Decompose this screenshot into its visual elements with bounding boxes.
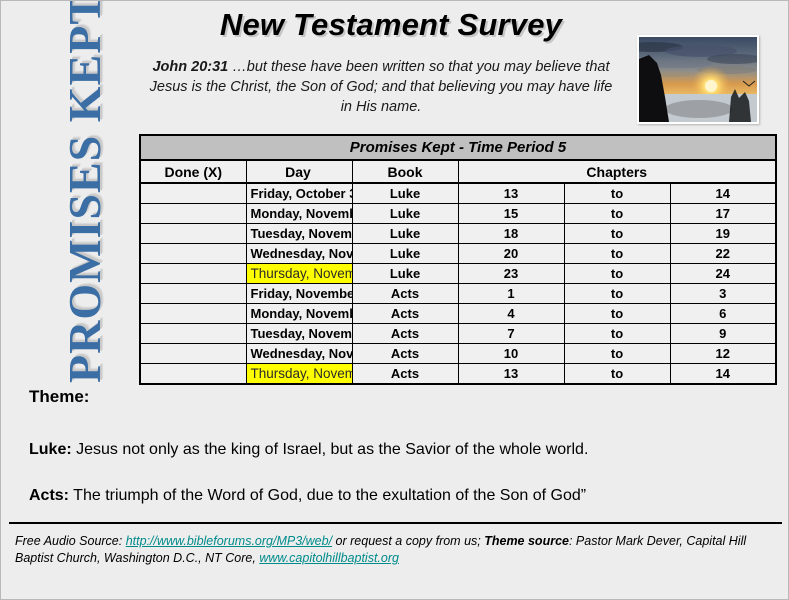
cell-done[interactable] [140, 284, 246, 304]
cell-chapter-from: 13 [458, 183, 564, 204]
cell-day: Monday, November 09, 2009 [246, 304, 352, 324]
audio-source-link[interactable]: http://www.bibleforums.org/MP3/web/ [126, 534, 332, 548]
cell-chapter-from: 18 [458, 224, 564, 244]
cell-chapter-thru: 22 [670, 244, 776, 264]
theme-acts-book: Acts: [29, 487, 69, 504]
footer-text-2: or request a copy from us; [332, 534, 484, 548]
cell-chapter-thru: 3 [670, 284, 776, 304]
cell-chapter-thru: 14 [670, 364, 776, 385]
cell-chapter-sep: to [564, 304, 670, 324]
cell-done[interactable] [140, 364, 246, 385]
theme-acts-line: Acts: The triumph of the Word of God, du… [29, 487, 586, 505]
cell-done[interactable] [140, 304, 246, 324]
cell-chapter-from: 15 [458, 204, 564, 224]
cell-chapter-sep: to [564, 264, 670, 284]
cell-book: Luke [352, 183, 458, 204]
cell-chapter-sep: to [564, 183, 670, 204]
table-caption: Promises Kept - Time Period 5 [140, 135, 776, 160]
column-header-day: Day [246, 160, 352, 183]
cell-book: Acts [352, 324, 458, 344]
cell-book: Acts [352, 344, 458, 364]
page-title: New Testament Survey [151, 7, 631, 43]
cell-chapter-thru: 14 [670, 183, 776, 204]
cell-done[interactable] [140, 183, 246, 204]
footer-credits: Free Audio Source: http://www.bibleforum… [15, 533, 763, 567]
slide-canvas: PROMISES KEPT New Testament Survey John … [0, 0, 789, 600]
cell-day: Tuesday, November 03, 2009 [246, 224, 352, 244]
capitolhillbaptist-link[interactable]: www.capitolhillbaptist.org [259, 551, 399, 565]
cell-book: Luke [352, 204, 458, 224]
sunset-photo-frame [637, 35, 759, 124]
column-header-book: Book [352, 160, 458, 183]
cell-day: Wednesday, November 04, 2009 [246, 244, 352, 264]
cell-chapter-thru: 19 [670, 224, 776, 244]
table-row[interactable]: Monday, November 09, 2009Acts4to6 [140, 304, 776, 324]
cell-chapter-thru: 12 [670, 344, 776, 364]
cell-chapter-thru: 6 [670, 304, 776, 324]
footer-divider [9, 522, 782, 524]
cell-chapter-from: 23 [458, 264, 564, 284]
cell-book: Acts [352, 284, 458, 304]
table-row[interactable]: Wednesday, November 04, 2009Luke20to22 [140, 244, 776, 264]
theme-acts-text: The triumph of the Word of God, due to t… [69, 487, 586, 504]
sunset-photo [639, 37, 757, 122]
cell-done[interactable] [140, 224, 246, 244]
theme-luke-line: Luke: Jesus not only as the king of Isra… [29, 441, 588, 459]
cell-chapter-from: 4 [458, 304, 564, 324]
cell-done[interactable] [140, 264, 246, 284]
column-header-chapters: Chapters [458, 160, 776, 183]
table-row[interactable]: Wednesday, November 11, 2009Acts10to12 [140, 344, 776, 364]
cell-done[interactable] [140, 244, 246, 264]
theme-luke-text: Jesus not only as the king of Israel, bu… [72, 441, 589, 458]
cell-chapter-thru: 17 [670, 204, 776, 224]
cell-chapter-from: 7 [458, 324, 564, 344]
scripture-quote: John 20:31 …but these have been written … [146, 57, 616, 117]
cell-day: Wednesday, November 11, 2009 [246, 344, 352, 364]
table-row[interactable]: Tuesday, November 03, 2009Luke18to19 [140, 224, 776, 244]
promises-kept-wordart: PROMISES KEPT [57, 31, 113, 383]
cell-chapter-sep: to [564, 344, 670, 364]
cell-day: Thursday, November 12, 2009 [246, 364, 352, 385]
promises-kept-table: Promises Kept - Time Period 5Done (X)Day… [139, 134, 777, 385]
cell-day: Friday, October 30, 2009 [246, 183, 352, 204]
cell-chapter-thru: 24 [670, 264, 776, 284]
cell-book: Luke [352, 244, 458, 264]
scripture-reference: John 20:31 [152, 59, 228, 75]
cell-day: Friday, November 06, 2009 [246, 284, 352, 304]
cell-book: Acts [352, 364, 458, 385]
cell-chapter-from: 20 [458, 244, 564, 264]
table-header-row: Done (X)DayBookChapters [140, 160, 776, 183]
column-header-done: Done (X) [140, 160, 246, 183]
cell-chapter-sep: to [564, 284, 670, 304]
table-row[interactable]: Friday, October 30, 2009Luke13to14 [140, 183, 776, 204]
table-row[interactable]: Friday, November 06, 2009Acts1to3 [140, 284, 776, 304]
cell-chapter-sep: to [564, 224, 670, 244]
table-row[interactable]: Tuesday, November 10, 2009Acts7to9 [140, 324, 776, 344]
cell-day: Tuesday, November 10, 2009 [246, 324, 352, 344]
cell-book: Acts [352, 304, 458, 324]
cell-done[interactable] [140, 324, 246, 344]
cell-done[interactable] [140, 204, 246, 224]
cell-day: Monday, November 02, 2009 [246, 204, 352, 224]
table-row[interactable]: Thursday, November 12, 2009Acts13to14 [140, 364, 776, 385]
cell-chapter-from: 1 [458, 284, 564, 304]
table-caption-row: Promises Kept - Time Period 5 [140, 135, 776, 160]
cell-chapter-sep: to [564, 364, 670, 385]
table-row[interactable]: Monday, November 02, 2009Luke15to17 [140, 204, 776, 224]
cell-chapter-from: 10 [458, 344, 564, 364]
theme-label: Theme: [29, 387, 89, 407]
table-row[interactable]: Thursday, November 05, 2009Luke23to24 [140, 264, 776, 284]
cell-chapter-sep: to [564, 324, 670, 344]
cell-chapter-sep: to [564, 204, 670, 224]
footer-text-1: Free Audio Source: [15, 534, 126, 548]
theme-luke-book: Luke: [29, 441, 72, 458]
cell-book: Luke [352, 224, 458, 244]
cell-done[interactable] [140, 344, 246, 364]
footer-theme-source-label: Theme source [484, 534, 569, 548]
cell-chapter-thru: 9 [670, 324, 776, 344]
cell-day: Thursday, November 05, 2009 [246, 264, 352, 284]
cell-book: Luke [352, 264, 458, 284]
cell-chapter-sep: to [564, 244, 670, 264]
cell-chapter-from: 13 [458, 364, 564, 385]
